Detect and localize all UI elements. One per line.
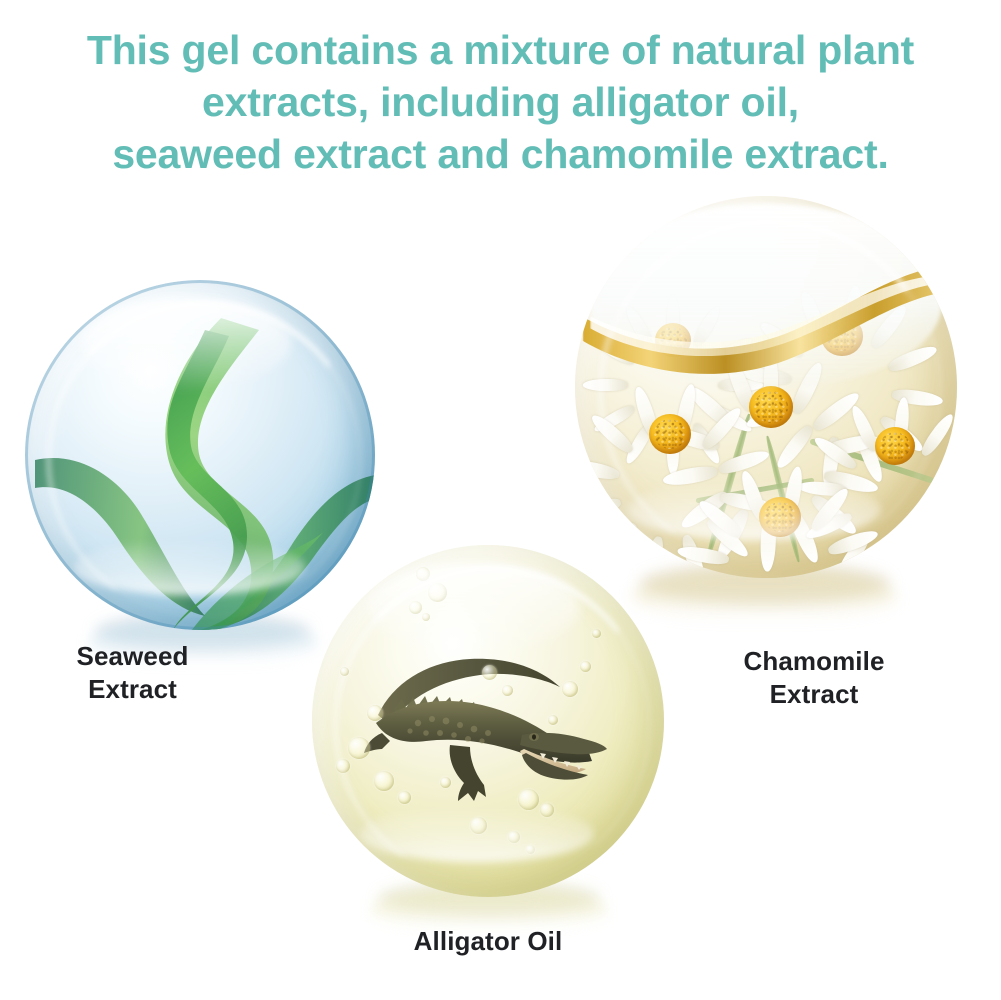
headline-line-3: seaweed extract and chamomile extract. bbox=[18, 128, 983, 180]
label-chamomile-line-1: Chamomile bbox=[690, 645, 938, 678]
chamomile-rim-gloss bbox=[598, 219, 942, 563]
alligator-rim-gloss bbox=[333, 566, 651, 884]
seaweed-bubble-icon bbox=[25, 280, 375, 630]
label-chamomile-extract: Chamomile Extract bbox=[690, 645, 938, 711]
chamomile-sphere-icon bbox=[575, 196, 957, 578]
label-alligator-oil: Alligator Oil bbox=[338, 925, 638, 958]
label-seaweed-extract: Seaweed Extract bbox=[10, 640, 255, 706]
headline-line-1: This gel contains a mixture of natural p… bbox=[18, 24, 983, 76]
alligator-oil-drop-icon bbox=[312, 545, 664, 897]
headline-line-2: extracts, including alligator oil, bbox=[18, 76, 983, 128]
label-seaweed-line-1: Seaweed bbox=[10, 640, 255, 673]
label-chamomile-line-2: Extract bbox=[690, 678, 938, 711]
seaweed-rim bbox=[25, 280, 375, 630]
infographic-canvas: This gel contains a mixture of natural p… bbox=[0, 0, 1001, 1000]
label-alligator-line-1: Alligator Oil bbox=[338, 925, 638, 958]
page-title: This gel contains a mixture of natural p… bbox=[18, 24, 983, 180]
label-seaweed-line-2: Extract bbox=[10, 673, 255, 706]
